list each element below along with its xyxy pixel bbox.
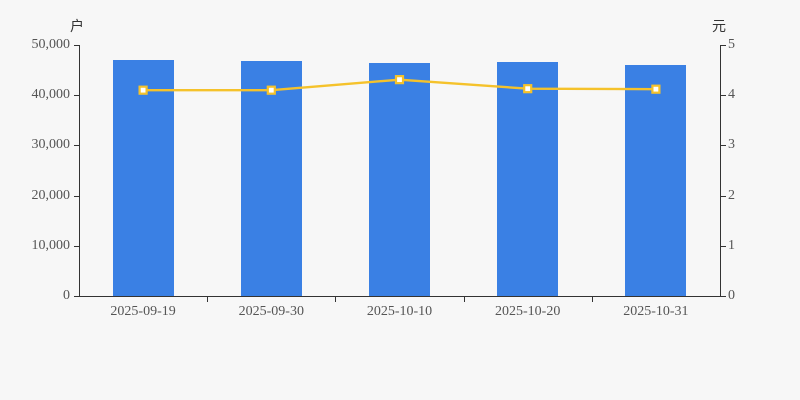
bar-2025-10-10[interactable] bbox=[369, 63, 430, 296]
x-tick-label: 2025-09-30 bbox=[239, 304, 304, 320]
left-tick-label: 20,000 bbox=[32, 188, 71, 204]
right-axis-unit-label: 元 bbox=[712, 16, 726, 36]
left-tick-mark bbox=[74, 45, 79, 46]
right-tick-label: 5 bbox=[728, 37, 735, 53]
x-tick-mark bbox=[592, 297, 593, 302]
bar-2025-10-20[interactable] bbox=[497, 62, 558, 296]
bar-2025-10-31[interactable] bbox=[625, 65, 686, 296]
left-tick-mark bbox=[74, 196, 79, 197]
left-tick-mark bbox=[74, 145, 79, 146]
x-tick-label: 2025-10-10 bbox=[367, 304, 432, 320]
right-tick-mark bbox=[721, 145, 726, 146]
right-tick-label: 2 bbox=[728, 188, 735, 204]
right-tick-mark bbox=[721, 296, 726, 297]
left-tick-label: 40,000 bbox=[32, 87, 71, 103]
left-axis-unit-label: 户 bbox=[70, 16, 84, 36]
left-tick-label: 0 bbox=[63, 288, 70, 304]
x-tick-mark bbox=[207, 297, 208, 302]
x-tick-label: 2025-10-31 bbox=[623, 304, 688, 320]
right-tick-label: 3 bbox=[728, 137, 735, 153]
left-y-axis-line bbox=[79, 45, 80, 296]
chart-container: 户 元 010,00020,00030,00040,00050,000 0123… bbox=[0, 0, 800, 400]
right-tick-mark bbox=[721, 95, 726, 96]
right-tick-mark bbox=[721, 45, 726, 46]
left-tick-label: 30,000 bbox=[32, 137, 71, 153]
left-tick-label: 10,000 bbox=[32, 238, 71, 254]
right-tick-mark bbox=[721, 246, 726, 247]
x-tick-mark bbox=[335, 297, 336, 302]
x-axis-line bbox=[79, 296, 721, 297]
left-tick-mark bbox=[74, 296, 79, 297]
left-tick-mark bbox=[74, 246, 79, 247]
right-tick-label: 4 bbox=[728, 87, 735, 103]
x-tick-mark bbox=[464, 297, 465, 302]
right-tick-label: 0 bbox=[728, 288, 735, 304]
right-tick-mark bbox=[721, 196, 726, 197]
left-tick-mark bbox=[74, 95, 79, 96]
bar-2025-09-19[interactable] bbox=[113, 60, 174, 296]
right-y-axis-line bbox=[720, 45, 721, 296]
right-tick-label: 1 bbox=[728, 238, 735, 254]
x-tick-label: 2025-10-20 bbox=[495, 304, 560, 320]
x-tick-label: 2025-09-19 bbox=[110, 304, 175, 320]
bar-2025-09-30[interactable] bbox=[241, 61, 302, 296]
left-tick-label: 50,000 bbox=[32, 37, 71, 53]
